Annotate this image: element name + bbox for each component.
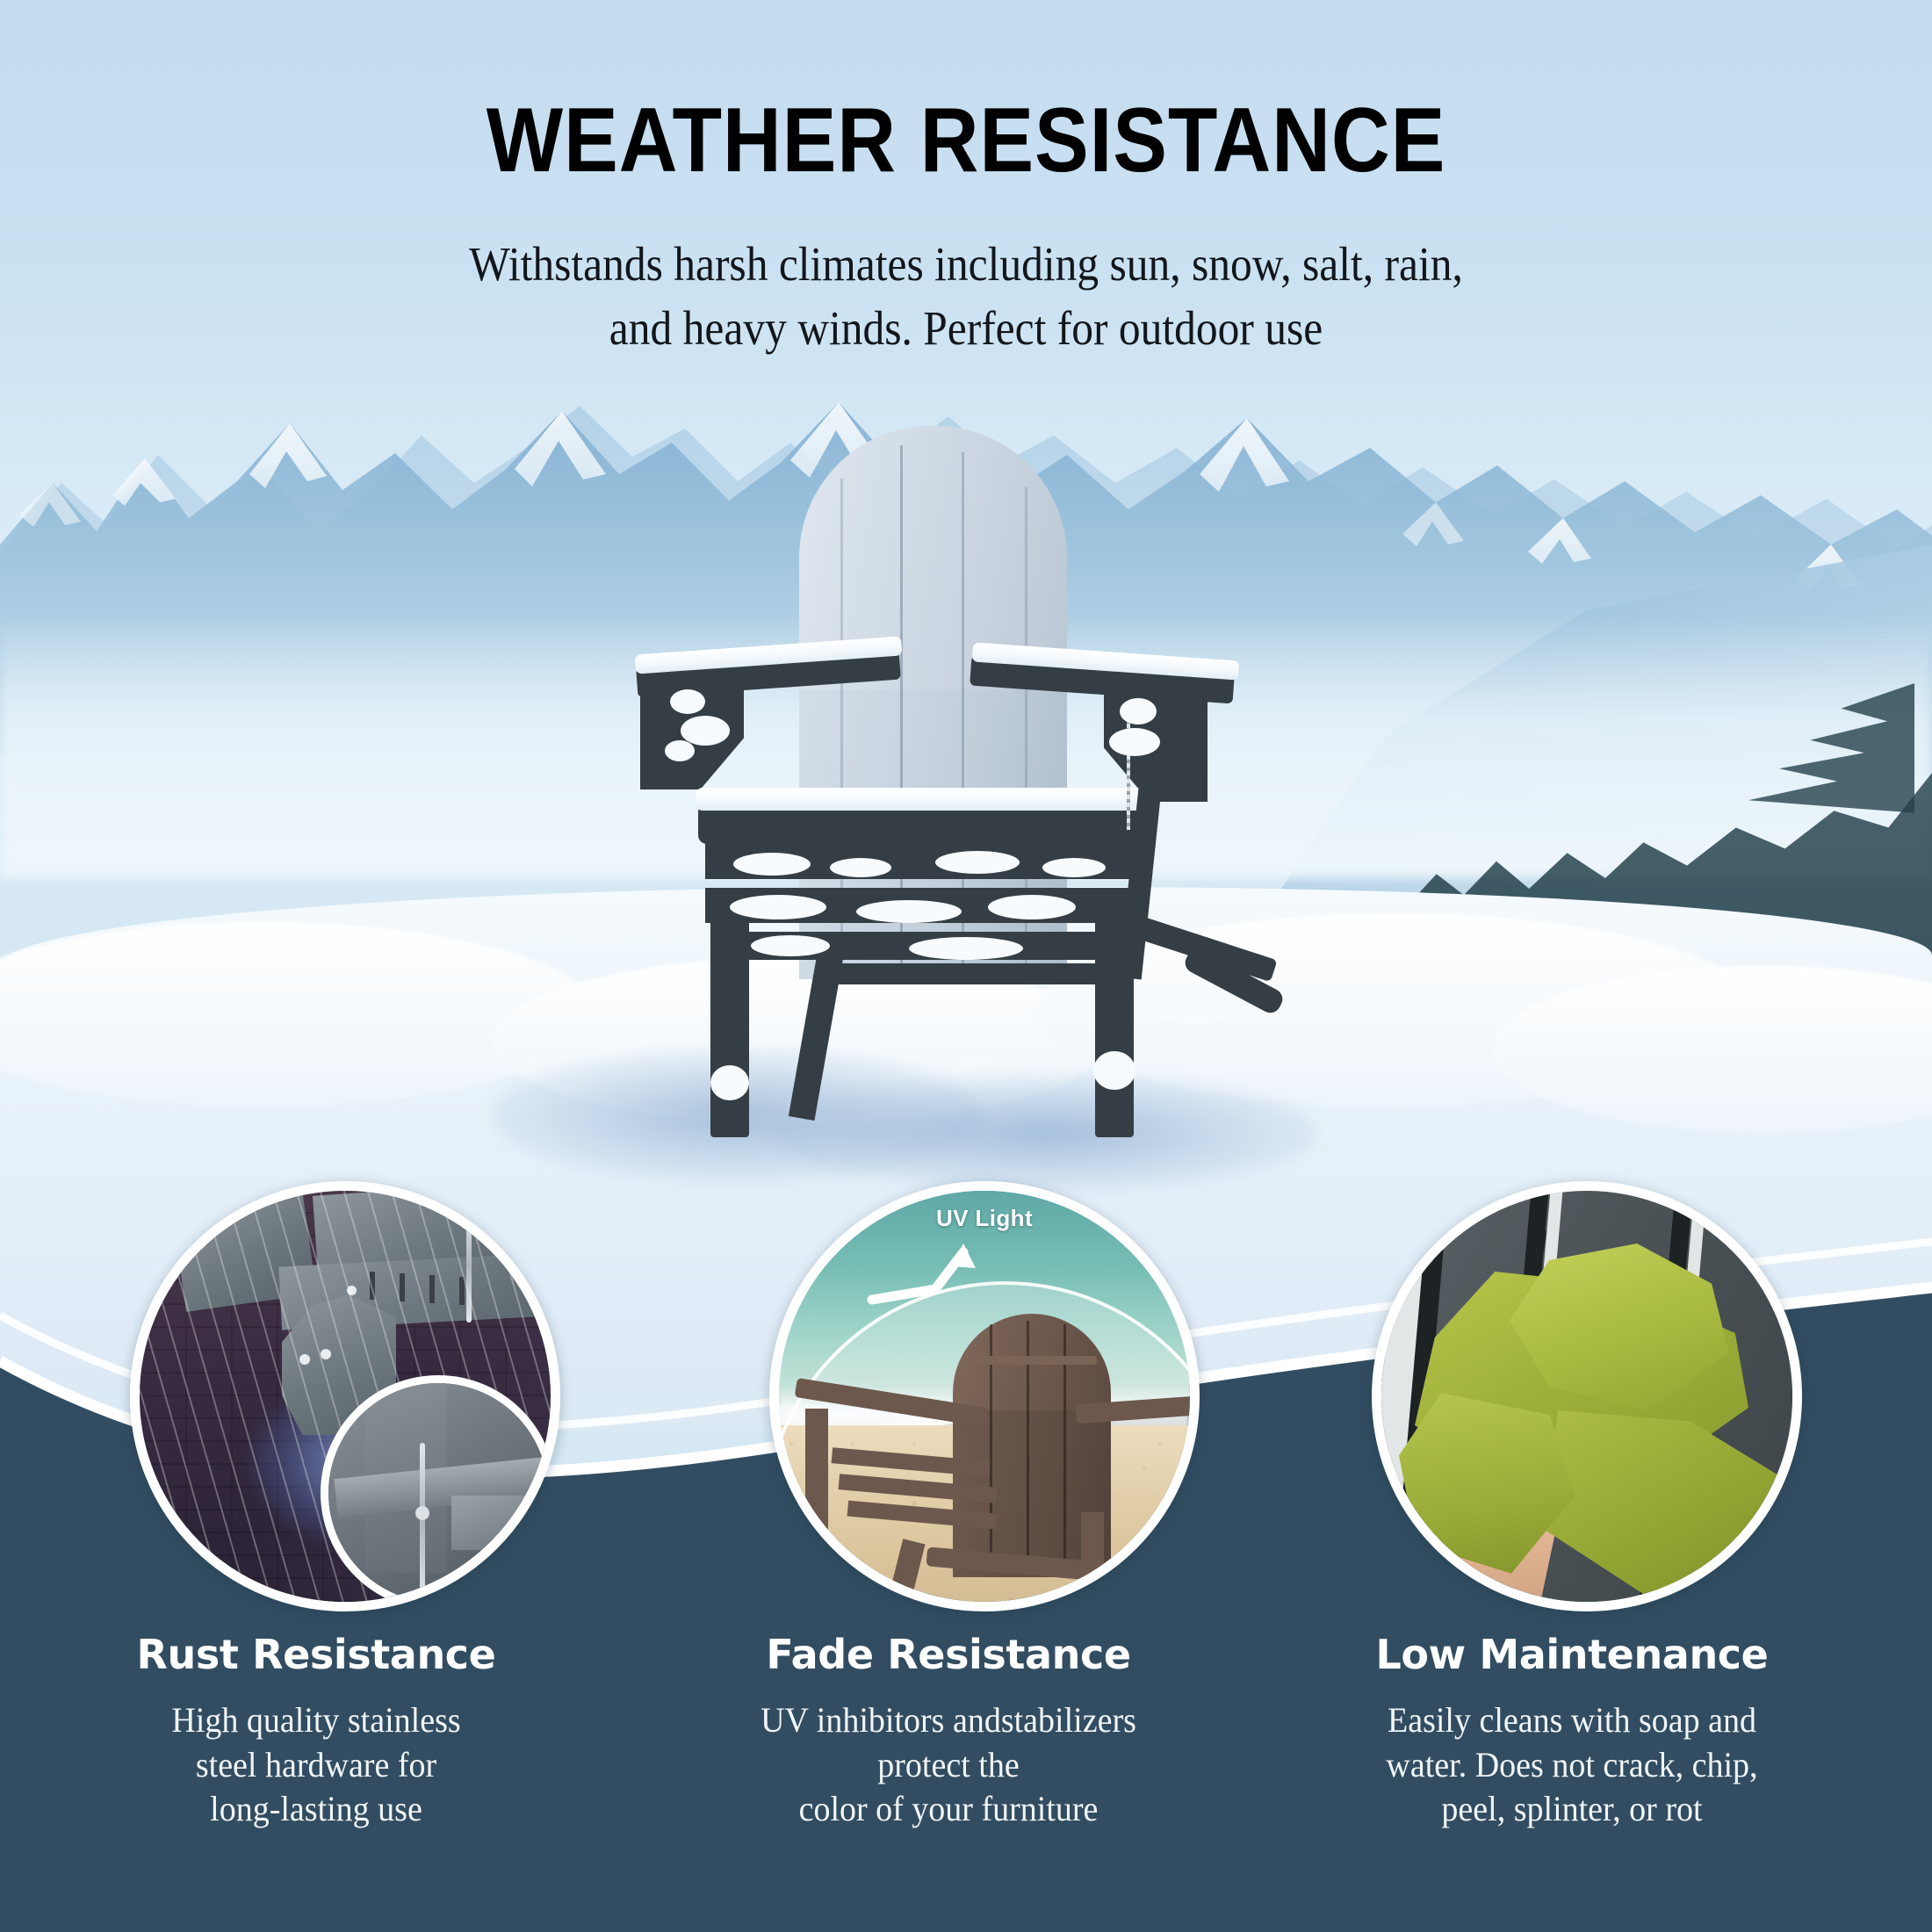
- inset-bracket: [451, 1496, 546, 1550]
- brown-chair-leg-left: [805, 1409, 828, 1567]
- feature-body-line-1: Easily cleans with soap and: [1305, 1698, 1839, 1742]
- hardware-detail-inset: [321, 1375, 556, 1611]
- feature-body-line-3: color of your furniture: [681, 1787, 1215, 1831]
- snow-patch: [909, 937, 1023, 960]
- snow-patch: [1155, 997, 1234, 1023]
- feature-body-line-2: protect the: [681, 1743, 1215, 1787]
- snow-patch: [1042, 858, 1106, 877]
- snow-covered-adirondack-chair: [645, 426, 1278, 1155]
- infographic-canvas: WEATHER RESISTANCE Withstands harsh clim…: [0, 0, 1932, 1932]
- snow-patch: [681, 716, 730, 746]
- feature-card-low-maintenance: Low Maintenance Easily cleans with soap …: [1291, 1633, 1853, 1831]
- feature-image-fade-resistance: UV Light: [769, 1181, 1200, 1611]
- feature-heading: Low Maintenance: [1291, 1633, 1853, 1676]
- brown-chair-leg-right: [1081, 1512, 1104, 1609]
- snow-patch: [751, 935, 830, 956]
- feature-body-line-1: UV inhibitors andstabilizers: [681, 1698, 1215, 1742]
- feature-heading: Fade Resistance: [667, 1633, 1229, 1676]
- inset-chain: [420, 1443, 425, 1601]
- snow-patch: [1093, 1051, 1135, 1090]
- snow-patch: [670, 689, 705, 714]
- subtitle-line-2: and heavy winds. Perfect for outdoor use: [97, 297, 1835, 361]
- feature-body: UV inhibitors andstabilizers protect the…: [681, 1698, 1215, 1831]
- snow-patch: [1109, 728, 1160, 756]
- feature-body-line-2: steel hardware for: [49, 1743, 583, 1787]
- snow-on-seat: [696, 788, 1157, 811]
- snow-patch: [935, 851, 1020, 874]
- feature-body: Easily cleans with soap and water. Does …: [1305, 1698, 1839, 1831]
- snow-patch: [710, 1065, 749, 1100]
- snow-patch: [665, 740, 695, 761]
- snow-patch: [830, 858, 891, 877]
- feature-body: High quality stainless steel hardware fo…: [49, 1698, 583, 1831]
- feature-card-fade-resistance: Fade Resistance UV inhibitors andstabili…: [667, 1633, 1229, 1831]
- snow-patch: [730, 895, 826, 919]
- subtitle-line-1: Withstands harsh climates including sun,…: [97, 233, 1835, 297]
- chair-stretcher: [830, 963, 1120, 984]
- uv-light-label: UV Light: [779, 1205, 1190, 1232]
- chair-back-rail: [969, 1356, 1097, 1365]
- uv-arrow-icon: [860, 1236, 1035, 1333]
- feature-card-rust-resistance: Rust Resistance High quality stainless s…: [35, 1633, 597, 1831]
- page-title: WEATHER RESISTANCE: [106, 95, 1826, 186]
- snow-patch: [856, 900, 962, 923]
- page-subtitle: Withstands harsh climates including sun,…: [97, 233, 1835, 360]
- chain-ball: [415, 1506, 429, 1520]
- feature-heading: Rust Resistance: [35, 1633, 597, 1676]
- feature-image-low-maintenance: [1372, 1181, 1802, 1611]
- chair-leg-front-left: [710, 918, 749, 1137]
- snow-patch: [733, 853, 811, 876]
- feature-cards: Rust Resistance High quality stainless s…: [0, 1633, 1932, 1932]
- feature-body-line-3: long-lasting use: [49, 1787, 583, 1831]
- snow-patch: [988, 895, 1076, 919]
- feature-body-line-1: High quality stainless: [49, 1698, 583, 1742]
- feature-image-rust-resistance: [130, 1181, 560, 1611]
- feature-body-line-2: water. Does not crack, chip,: [1305, 1743, 1839, 1787]
- feature-body-line-3: peel, splinter, or rot: [1305, 1787, 1839, 1831]
- snow-patch: [1120, 698, 1157, 724]
